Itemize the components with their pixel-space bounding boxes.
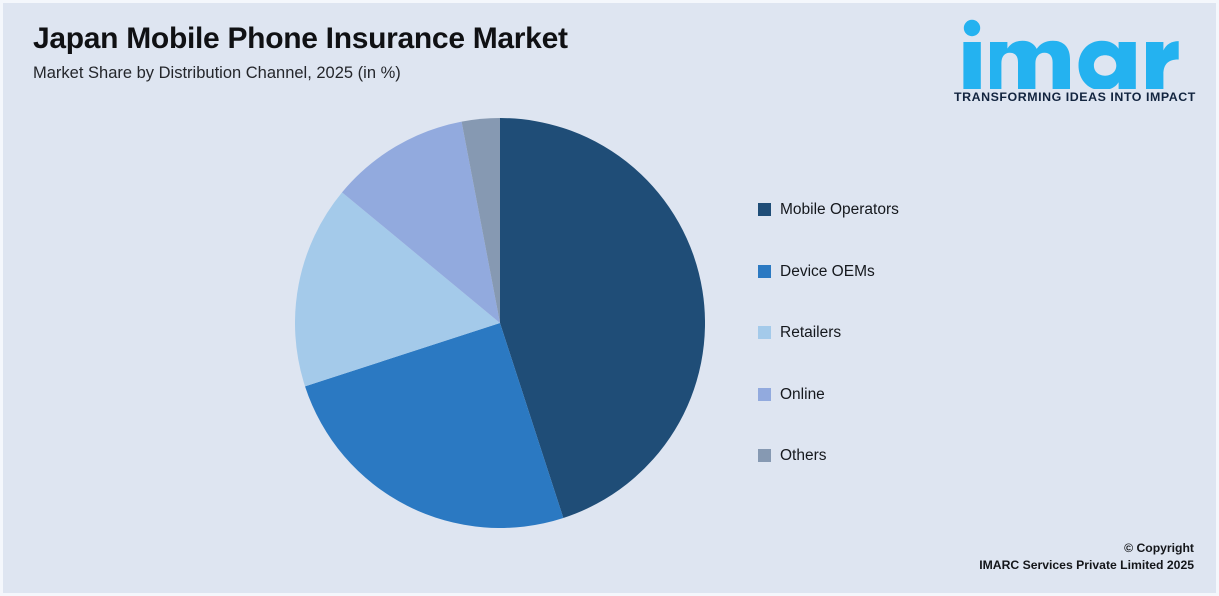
- legend-item-label: Online: [780, 387, 825, 403]
- pie-chart: [295, 118, 705, 528]
- legend-item[interactable]: Retailers: [758, 302, 1058, 364]
- legend-swatch-icon: [758, 326, 771, 339]
- copyright-line-2: IMARC Services Private Limited 2025: [979, 557, 1194, 575]
- imarc-logo: TRANSFORMING IDEAS INTO IMPACT: [954, 17, 1194, 104]
- title-block: Japan Mobile Phone Insurance Market Mark…: [33, 21, 753, 84]
- page-title: Japan Mobile Phone Insurance Market: [33, 21, 753, 57]
- legend-item[interactable]: Others: [758, 425, 1058, 487]
- legend-swatch-icon: [758, 449, 771, 462]
- copyright-line-1: © Copyright: [979, 540, 1194, 558]
- legend-item[interactable]: Online: [758, 364, 1058, 426]
- legend-item[interactable]: Device OEMs: [758, 241, 1058, 303]
- imarc-wordmark-icon: [954, 17, 1190, 89]
- page-subtitle: Market Share by Distribution Channel, 20…: [33, 64, 753, 84]
- legend-item-label: Device OEMs: [780, 264, 875, 280]
- legend-item-label: Others: [780, 448, 827, 464]
- legend-swatch-icon: [758, 388, 771, 401]
- infographic-canvas: Japan Mobile Phone Insurance Market Mark…: [0, 0, 1219, 596]
- legend-item[interactable]: Mobile Operators: [758, 179, 1058, 241]
- legend-item-label: Mobile Operators: [780, 202, 899, 218]
- logo-tagline: TRANSFORMING IDEAS INTO IMPACT: [954, 90, 1194, 104]
- legend-swatch-icon: [758, 265, 771, 278]
- pie-chart-svg: [295, 118, 705, 528]
- legend-item-label: Retailers: [780, 325, 841, 341]
- copyright-block: © Copyright IMARC Services Private Limit…: [979, 540, 1194, 575]
- pie-slice-group: [295, 118, 705, 528]
- legend-swatch-icon: [758, 203, 771, 216]
- chart-legend: Mobile OperatorsDevice OEMsRetailersOnli…: [758, 179, 1058, 487]
